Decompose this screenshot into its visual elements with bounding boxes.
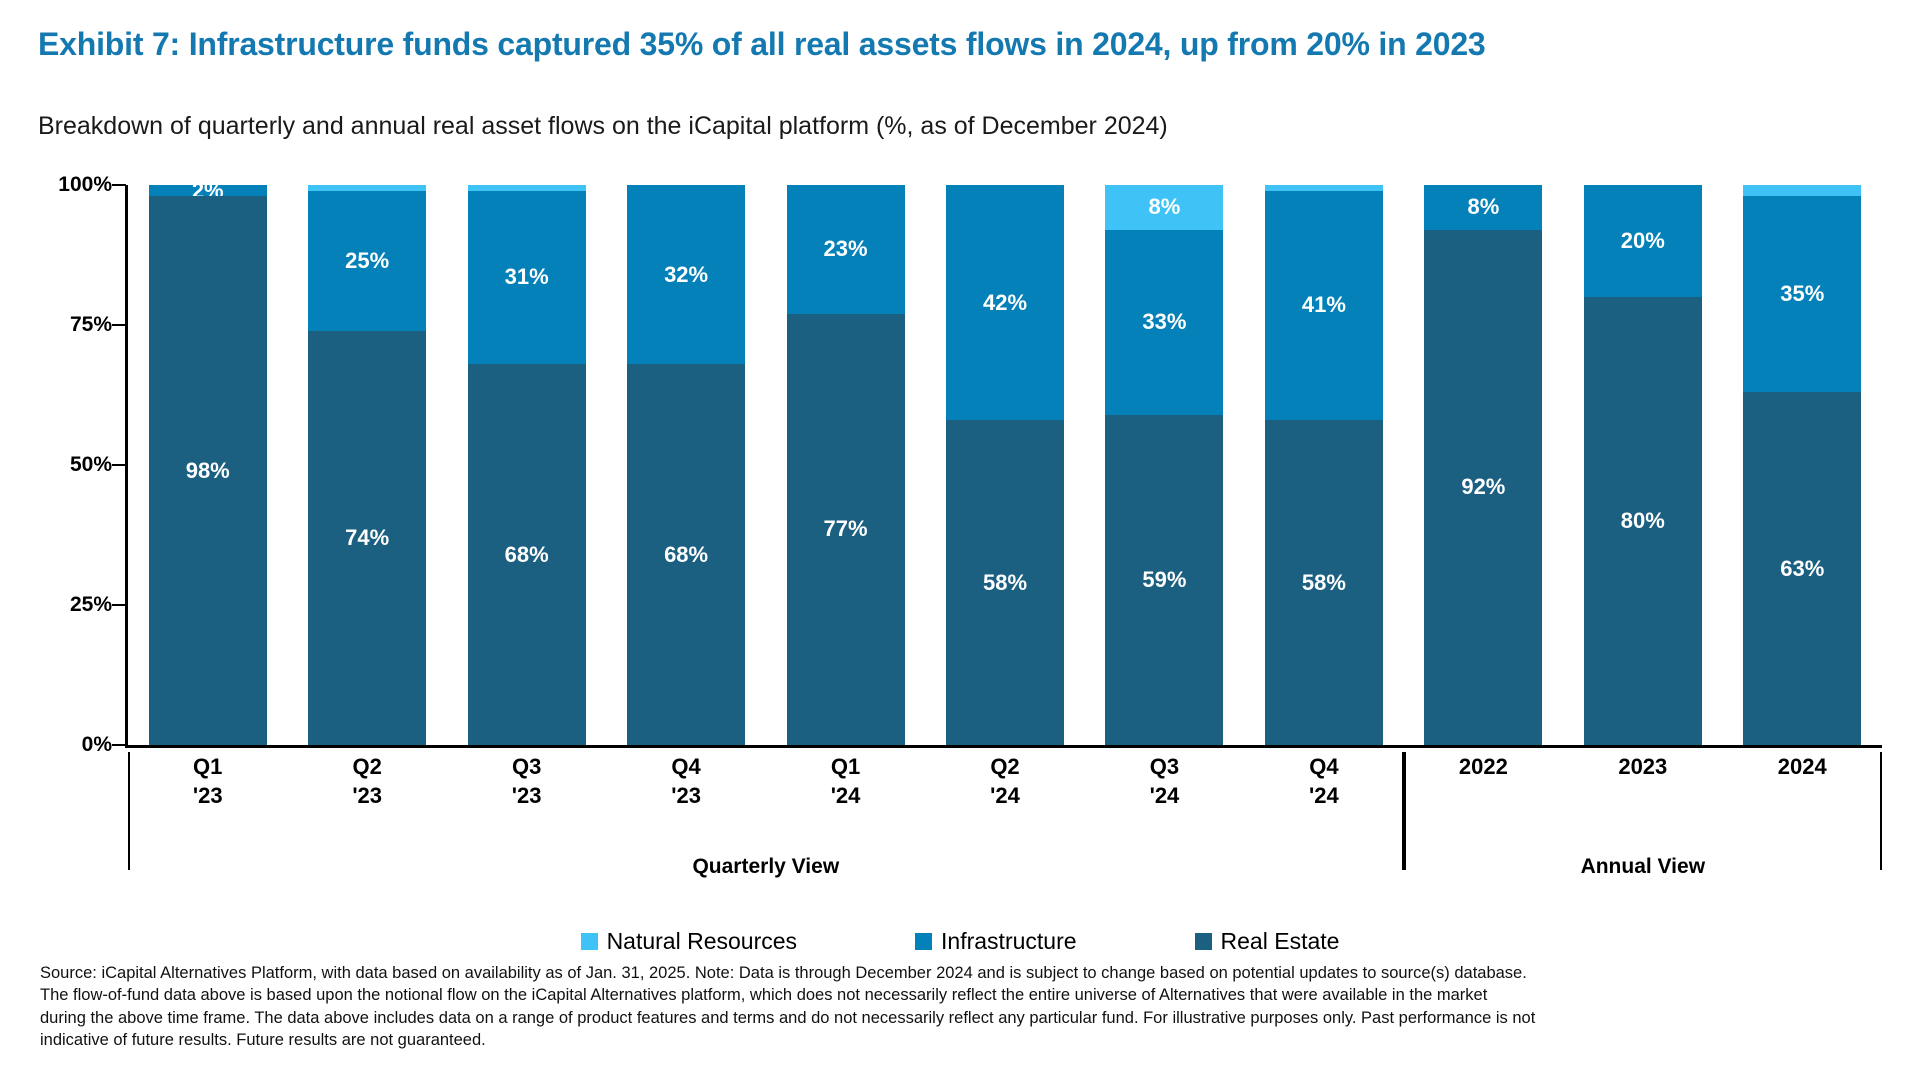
bar-segment-natural-resources[interactable] [1743, 185, 1861, 196]
bar-value-label: 58% [983, 572, 1027, 594]
page-subtitle: Breakdown of quarterly and annual real a… [38, 112, 1168, 141]
bar-segment-real-estate[interactable]: 77% [787, 314, 905, 745]
legend-swatch-icon [915, 933, 932, 950]
y-tick-label: 0% [82, 733, 112, 757]
footnote-line: indicative of future results. Future res… [40, 1029, 1882, 1051]
bar-segment-infrastructure[interactable]: 25% [308, 191, 426, 331]
bar-segment-infrastructure[interactable]: 42% [946, 185, 1064, 420]
y-tick-mark [112, 604, 126, 606]
group-bracket [1404, 752, 1882, 870]
bar-slot[interactable]: 25%74% [287, 185, 446, 745]
bar-value-label: 59% [1142, 569, 1186, 591]
bar-slot[interactable]: 41%58% [1244, 185, 1403, 745]
bar-value-label: 92% [1461, 476, 1505, 498]
bar-segment-infrastructure[interactable]: 23% [787, 185, 905, 314]
bar-slot[interactable]: 8%33%59% [1085, 185, 1244, 745]
bar-value-label: 35% [1780, 283, 1824, 305]
y-tick-label: 50% [70, 453, 112, 477]
bar-value-label: 77% [824, 518, 868, 540]
bar-segment-real-estate[interactable]: 59% [1105, 415, 1223, 745]
group-bracket-label: Quarterly View [128, 855, 1404, 879]
bar-segment-natural-resources[interactable]: 8% [1105, 185, 1223, 230]
bar-value-label: 58% [1302, 572, 1346, 594]
bar-value-label: 23% [824, 238, 868, 260]
stacked-bar[interactable]: 2%98% [149, 185, 267, 745]
y-tick-mark [112, 744, 126, 746]
bar-segment-infrastructure[interactable]: 20% [1584, 185, 1702, 297]
footnote-line: The flow-of-fund data above is based upo… [40, 984, 1882, 1006]
bar-slot[interactable]: 2%98% [128, 185, 287, 745]
bar-segment-infrastructure[interactable]: 8% [1424, 185, 1542, 230]
bar-value-label: 98% [186, 460, 230, 482]
legend-item[interactable]: Real Estate [1195, 928, 1340, 955]
bar-segment-real-estate[interactable]: 92% [1424, 230, 1542, 745]
bar-value-label: 8% [1467, 196, 1499, 218]
bar-segment-infrastructure[interactable]: 35% [1743, 196, 1861, 392]
stacked-bar[interactable]: 42%58% [946, 185, 1064, 745]
bar-segment-infrastructure[interactable]: 2% [149, 185, 267, 196]
bar-segment-infrastructure[interactable]: 32% [627, 185, 745, 364]
y-axis-ticks [112, 185, 126, 745]
stacked-bar[interactable]: 32%68% [627, 185, 745, 745]
y-tick-mark [112, 184, 126, 186]
bar-slot[interactable]: 23%77% [766, 185, 925, 745]
bar-slot[interactable]: 32%68% [606, 185, 765, 745]
bar-segment-infrastructure[interactable]: 31% [468, 191, 586, 365]
bar-slot[interactable]: 42%58% [925, 185, 1084, 745]
bar-series-container: 2%98%25%74%31%68%32%68%23%77%42%58%8%33%… [128, 185, 1882, 745]
bar-value-label: 33% [1142, 311, 1186, 333]
bar-value-label: 25% [345, 250, 389, 272]
y-tick-mark [112, 324, 126, 326]
bar-slot[interactable]: 20%80% [1563, 185, 1722, 745]
stacked-bar[interactable]: 41%58% [1265, 185, 1383, 745]
legend-label: Natural Resources [607, 928, 797, 955]
bar-value-label: 8% [1149, 196, 1181, 218]
plot-area: 100%75%50%25%0% 2%98%25%74%31%68%32%68%2… [0, 185, 1920, 745]
y-axis-labels: 100%75%50%25%0% [34, 185, 112, 745]
bar-segment-infrastructure[interactable]: 41% [1265, 191, 1383, 421]
bar-value-label: 20% [1621, 230, 1665, 252]
chart-page: Exhibit 7: Infrastructure funds captured… [0, 0, 1920, 1080]
bar-segment-real-estate[interactable]: 80% [1584, 297, 1702, 745]
footnote-line: Source: iCapital Alternatives Platform, … [40, 962, 1882, 984]
legend-item[interactable]: Natural Resources [581, 928, 797, 955]
bar-segment-real-estate[interactable]: 68% [627, 364, 745, 745]
stacked-bar[interactable]: 23%77% [787, 185, 905, 745]
bar-segment-real-estate[interactable]: 74% [308, 331, 426, 745]
bar-slot[interactable]: 35%63% [1723, 185, 1882, 745]
bar-value-label: 32% [664, 264, 708, 286]
y-tick-label: 25% [70, 593, 112, 617]
stacked-bar[interactable]: 35%63% [1743, 185, 1861, 745]
legend-swatch-icon [1195, 933, 1212, 950]
page-title: Exhibit 7: Infrastructure funds captured… [38, 26, 1486, 63]
group-bracket [128, 752, 1404, 870]
bar-value-label: 80% [1621, 510, 1665, 532]
bar-segment-real-estate[interactable]: 58% [946, 420, 1064, 745]
bar-slot[interactable]: 8%92% [1404, 185, 1563, 745]
legend-item[interactable]: Infrastructure [915, 928, 1077, 955]
bar-value-label: 68% [664, 544, 708, 566]
bar-value-label: 74% [345, 527, 389, 549]
legend-label: Infrastructure [941, 928, 1077, 955]
chart-legend: Natural ResourcesInfrastructureReal Esta… [0, 928, 1920, 955]
stacked-bar[interactable]: 20%80% [1584, 185, 1702, 745]
y-tick-mark [112, 464, 126, 466]
stacked-bar[interactable]: 8%92% [1424, 185, 1542, 745]
y-tick-label: 75% [70, 313, 112, 337]
bar-value-label: 68% [505, 544, 549, 566]
bar-slot[interactable]: 31%68% [447, 185, 606, 745]
bar-value-label: 41% [1302, 294, 1346, 316]
bar-segment-real-estate[interactable]: 58% [1265, 420, 1383, 745]
bar-value-label: 63% [1780, 558, 1824, 580]
footnote-text: Source: iCapital Alternatives Platform, … [40, 962, 1882, 1052]
footnote-line: during the above time frame. The data ab… [40, 1007, 1882, 1029]
legend-label: Real Estate [1221, 928, 1340, 955]
stacked-bar[interactable]: 8%33%59% [1105, 185, 1223, 745]
bar-segment-infrastructure[interactable]: 33% [1105, 230, 1223, 415]
bar-value-label: 42% [983, 292, 1027, 314]
group-bracket-label: Annual View [1404, 855, 1882, 879]
bar-segment-real-estate[interactable]: 63% [1743, 392, 1861, 745]
bar-segment-real-estate[interactable]: 68% [468, 364, 586, 745]
stacked-bar[interactable]: 31%68% [468, 185, 586, 745]
legend-swatch-icon [581, 933, 598, 950]
stacked-bar[interactable]: 25%74% [308, 185, 426, 745]
x-axis-line [125, 745, 1882, 748]
bar-value-label: 31% [505, 266, 549, 288]
y-tick-label: 100% [58, 173, 112, 197]
bar-segment-real-estate[interactable]: 98% [149, 196, 267, 745]
